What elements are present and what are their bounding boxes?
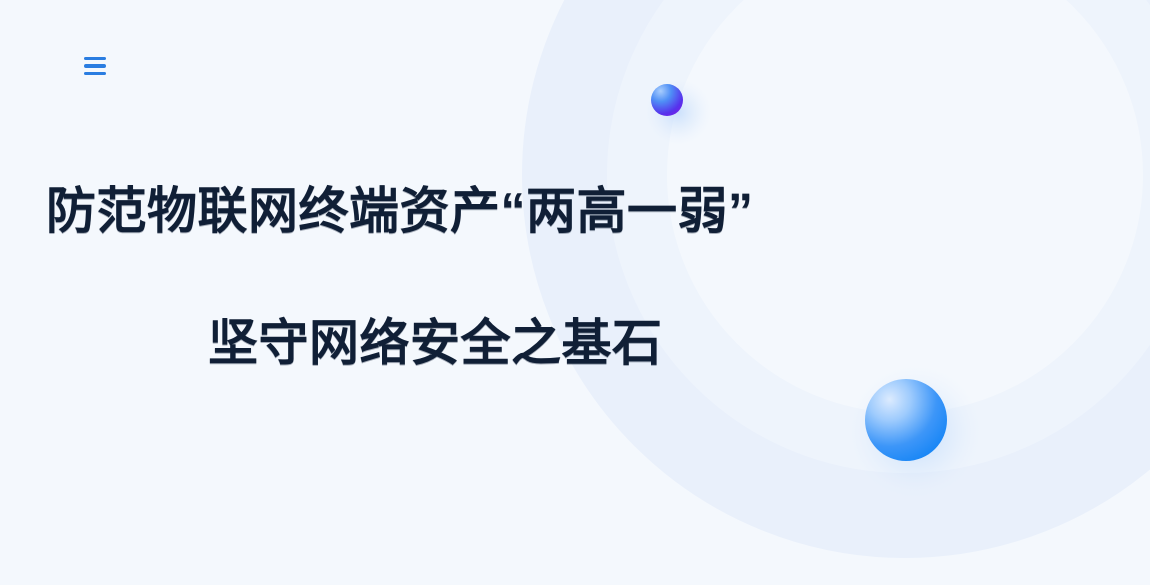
- big-dot-glow: [847, 364, 983, 500]
- hamburger-bar-middle: [84, 64, 106, 68]
- hamburger-menu-icon[interactable]: [84, 50, 116, 82]
- big-gradient-dot: [865, 379, 947, 461]
- small-dot-glow: [644, 78, 712, 146]
- hero-title-line-2: 坚守网络安全之基石: [208, 318, 880, 368]
- slide-canvas: 防范物联网终端资产“两高一弱” 坚守网络安全之基石: [0, 0, 1150, 585]
- hamburger-bar-top: [84, 57, 106, 61]
- hero-title-line-1: 防范物联网终端资产“两高一弱”: [46, 186, 880, 236]
- light-blue-arc-shape: [1003, 0, 1150, 322]
- small-gradient-dot: [651, 84, 683, 116]
- hamburger-bar-bottom: [84, 72, 106, 76]
- hero-headline: 防范物联网终端资产“两高一弱” 坚守网络安全之基石: [0, 186, 880, 368]
